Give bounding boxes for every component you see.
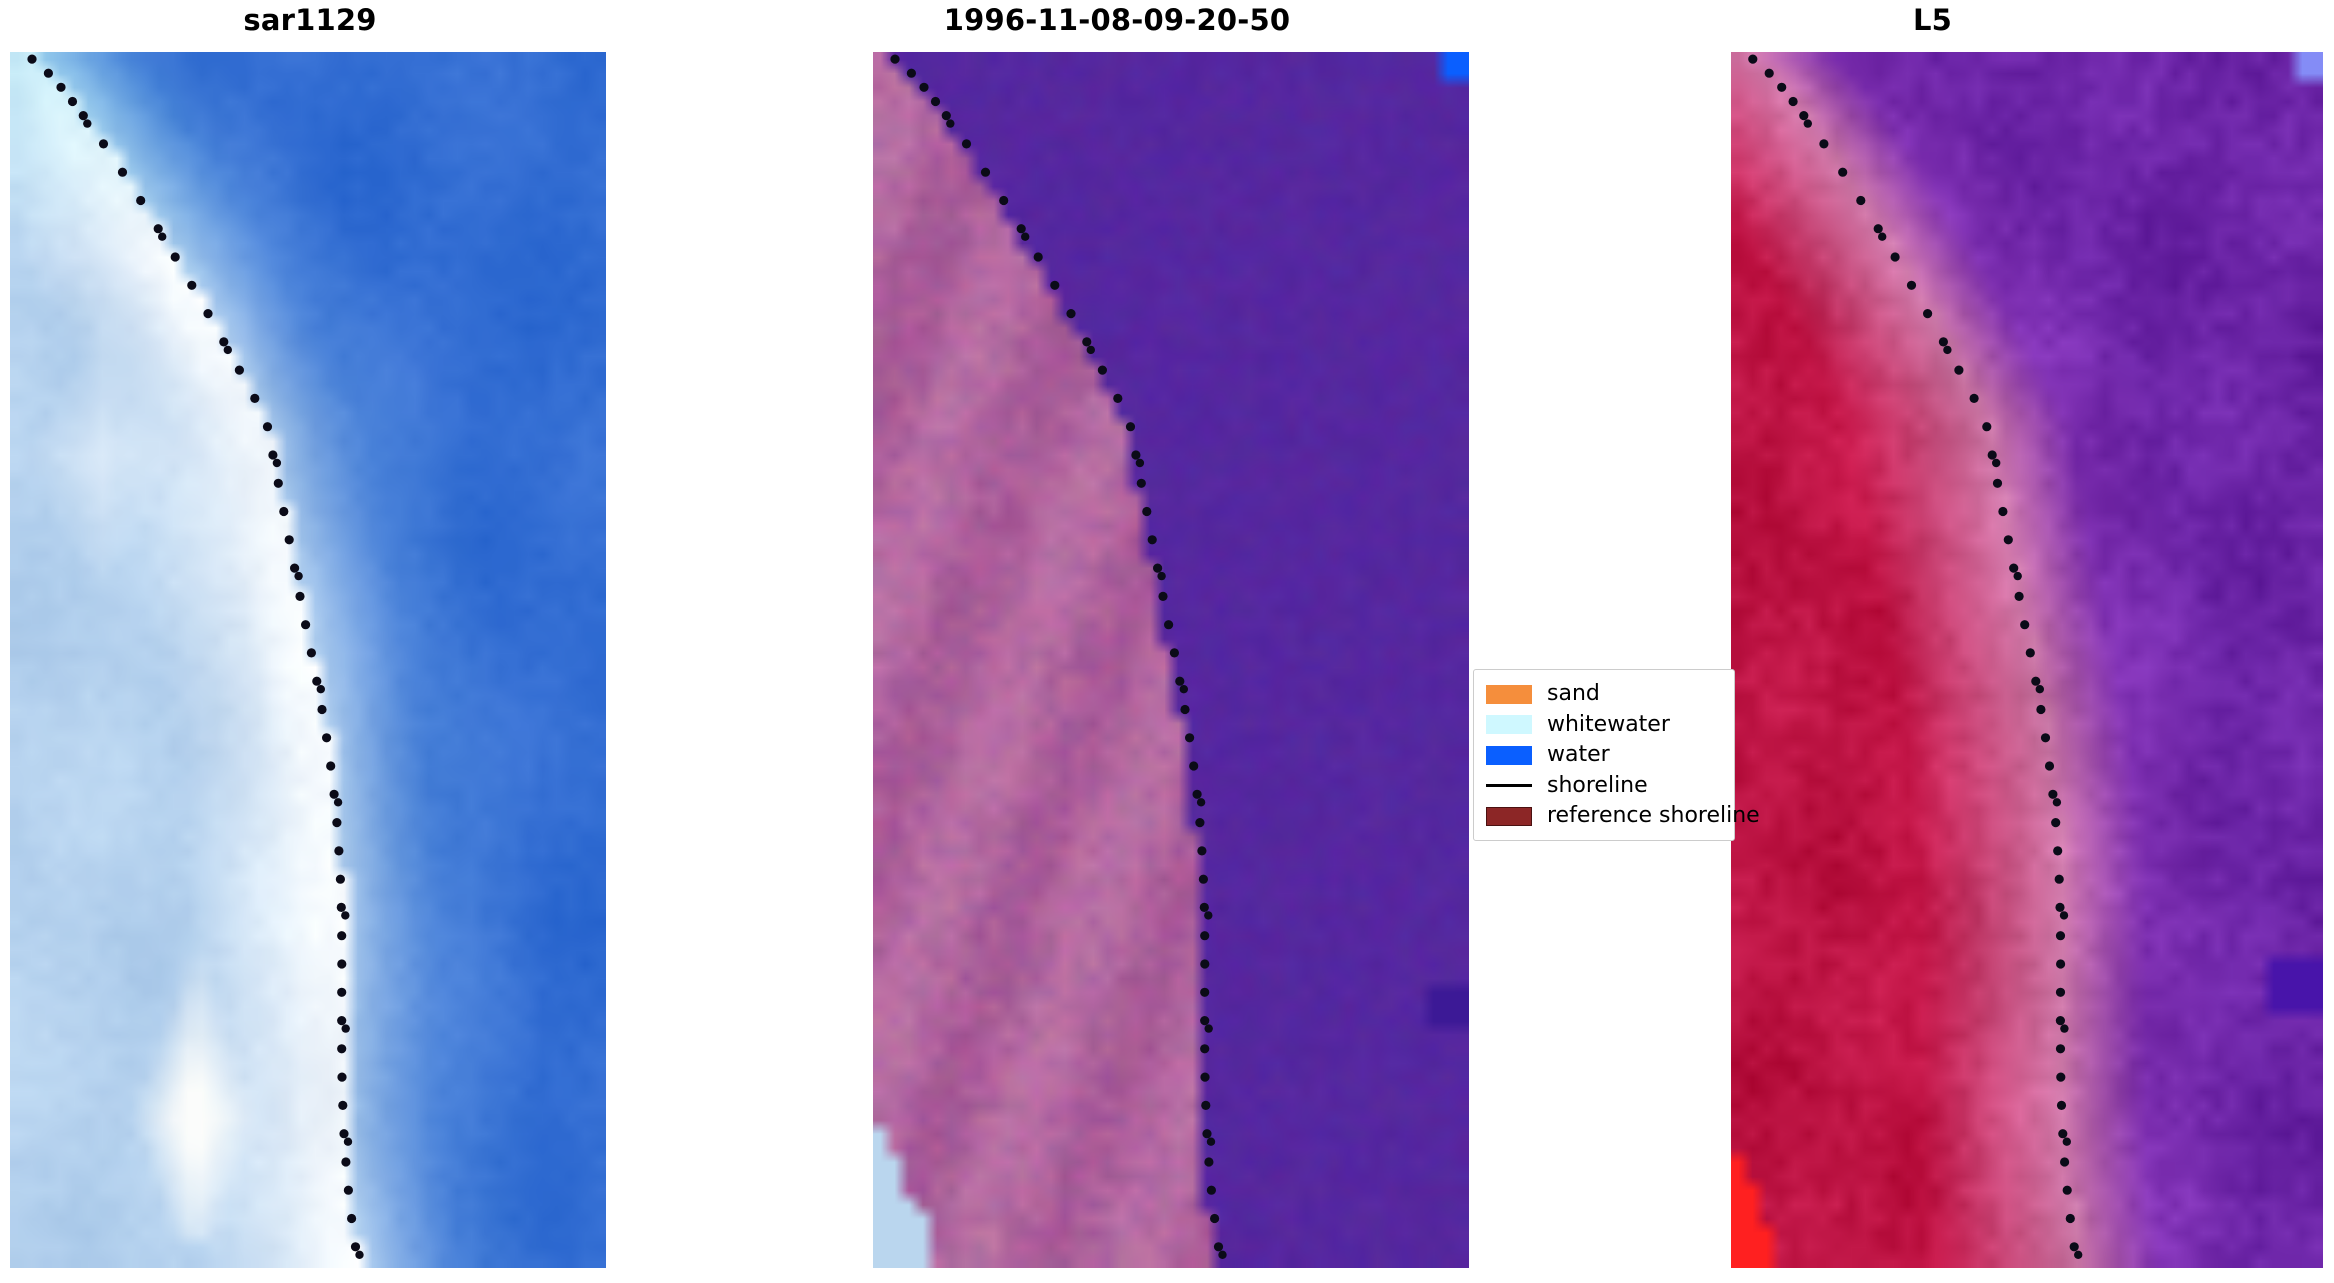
panel-sar1129: sar1129 bbox=[0, 0, 620, 1283]
legend-item-whitewater: whitewater bbox=[1486, 710, 1724, 741]
sar-shoreline-overlay bbox=[10, 52, 606, 1268]
reference-shoreline-swatch bbox=[1486, 807, 1532, 826]
legend-label-sand: sand bbox=[1547, 683, 1600, 705]
panel-l5: L5 bbox=[1731, 0, 2334, 1283]
sar-image-area bbox=[10, 52, 606, 1268]
legend-label-shoreline: shoreline bbox=[1547, 775, 1648, 797]
sand-swatch bbox=[1486, 685, 1532, 704]
panel-title-classified: 1996-11-08-09-20-50 bbox=[865, 6, 1427, 35]
panel-title-sar: sar1129 bbox=[0, 6, 620, 35]
l5-image-area bbox=[1731, 52, 2323, 1268]
legend-item-reference-shoreline: reference shoreline bbox=[1486, 801, 1724, 832]
legend-item-shoreline: shoreline bbox=[1486, 771, 1724, 802]
panel-classified: 1996-11-08-09-20-50 bbox=[865, 0, 1485, 1283]
legend-label-whitewater: whitewater bbox=[1547, 714, 1670, 736]
panel-title-l5: L5 bbox=[1731, 6, 2234, 35]
classified-image-area bbox=[873, 52, 1469, 1268]
figure-root: sar1129 1996-11-08-09-20-50 L5 sand whit… bbox=[0, 0, 2334, 1283]
legend-item-sand: sand bbox=[1486, 679, 1724, 710]
legend-label-reference-shoreline: reference shoreline bbox=[1547, 805, 1760, 827]
water-swatch bbox=[1486, 746, 1532, 765]
whitewater-swatch bbox=[1486, 715, 1532, 734]
legend-box: sand whitewater water shoreline referenc… bbox=[1473, 669, 1735, 841]
shoreline-line-swatch bbox=[1486, 784, 1532, 787]
legend-item-water: water bbox=[1486, 740, 1724, 771]
l5-shoreline-overlay bbox=[1731, 52, 2323, 1268]
classified-shoreline-overlay bbox=[873, 52, 1469, 1268]
legend-label-water: water bbox=[1547, 744, 1610, 766]
